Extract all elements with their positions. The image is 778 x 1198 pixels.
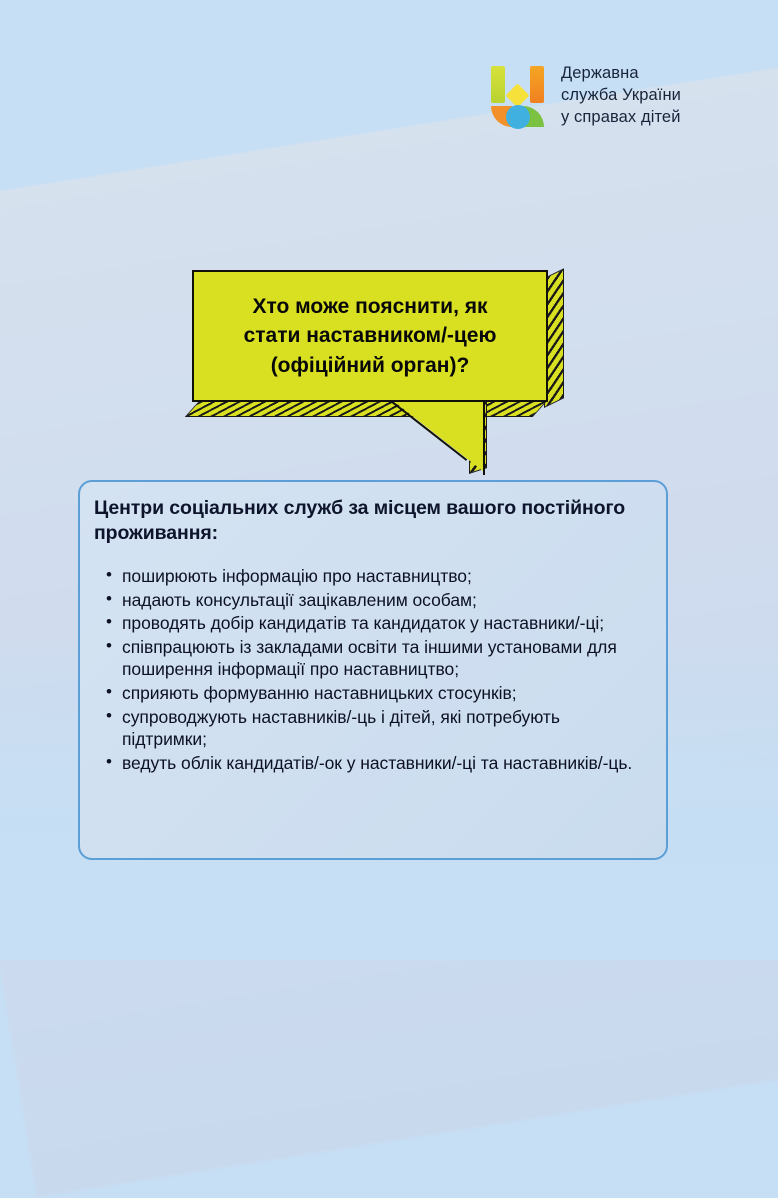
logo-circle-shape — [506, 105, 530, 129]
logo-text-line-3: у справах дітей — [561, 107, 681, 129]
logo-wordmark: Державна служба України у справах дітей — [561, 63, 681, 128]
bubble-text-line-3: (офіційний орган)? — [271, 351, 470, 380]
logo-text-line-2: служба України — [561, 85, 681, 107]
list-item: надають консультації зацікавленим особам… — [94, 589, 648, 612]
card-bullet-list: поширюють інформацію про наставництво; н… — [94, 565, 648, 774]
logo-bar-right-shape — [530, 66, 544, 103]
bubble-body: Хто може пояснити, як стати наставником/… — [192, 270, 548, 402]
list-item: проводять добір кандидатів та кандидаток… — [94, 612, 648, 635]
question-speech-bubble: Хто може пояснити, як стати наставником/… — [192, 270, 572, 470]
logo-text-line-1: Державна — [561, 63, 681, 85]
logo-diamond-shape — [505, 83, 529, 107]
list-item: супроводжують наставників/-ць і дітей, я… — [94, 706, 648, 751]
bubble-text-line-2: стати наставником/-цею — [244, 321, 497, 350]
bubble-hatched-shadow-bottom — [185, 400, 548, 417]
bubble-text-line-1: Хто може пояснити, як — [253, 292, 488, 321]
list-item: співпрацюють із закладами освіти та інши… — [94, 636, 648, 681]
list-item: ведуть облік кандидатів/-ок у наставники… — [94, 752, 648, 775]
answer-info-card: Центри соціальних служб за місцем вашого… — [78, 480, 668, 860]
organization-logo: Державна служба України у справах дітей — [488, 58, 720, 134]
logo-bar-left-shape — [491, 66, 505, 103]
card-heading: Центри соціальних служб за місцем вашого… — [94, 496, 648, 545]
bubble-tail-edge-vertical — [483, 400, 485, 475]
list-item: поширюють інформацію про наставництво; — [94, 565, 648, 588]
list-item: сприяють формуванню наставницьких стосун… — [94, 682, 648, 705]
logo-mark-icon — [488, 61, 548, 131]
